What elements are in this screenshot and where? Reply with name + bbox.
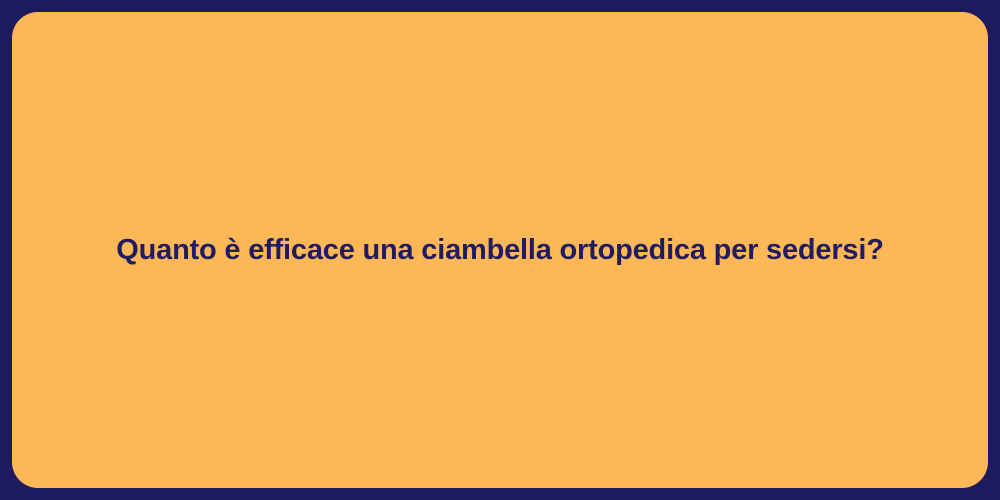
page-title: Quanto è efficace una ciambella ortopedi…: [84, 232, 916, 268]
headline-container: Quanto è efficace una ciambella ortopedi…: [12, 232, 988, 268]
card-frame: Quanto è efficace una ciambella ortopedi…: [0, 0, 1000, 500]
card-panel: Quanto è efficace una ciambella ortopedi…: [12, 12, 988, 488]
